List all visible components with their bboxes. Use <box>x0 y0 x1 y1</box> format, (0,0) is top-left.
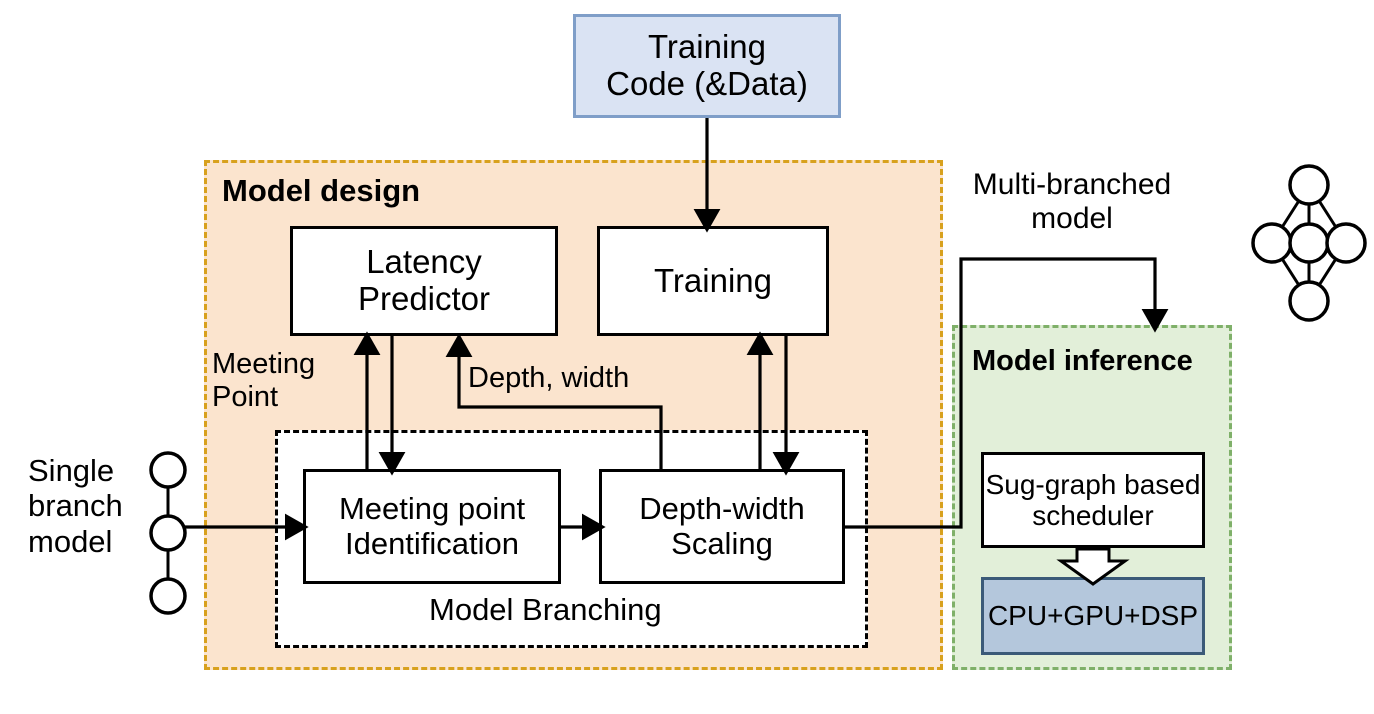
region-model-branching-title: Model Branching <box>429 592 662 627</box>
diagram-canvas: Model design Model inference Model Branc… <box>0 0 1374 714</box>
label-depth-width: Depth, width <box>468 362 629 395</box>
single-branch-model-graph <box>138 448 198 618</box>
box-training[interactable]: Training <box>597 226 829 336</box>
box-subgraph-scheduler[interactable]: Sug-graph basedscheduler <box>981 452 1205 548</box>
box-latency-predictor[interactable]: LatencyPredictor <box>290 226 558 336</box>
region-model-inference-title: Model inference <box>972 345 1193 378</box>
label-single-branch-model: Singlebranchmodel <box>28 453 123 559</box>
box-depth-width-scaling[interactable]: Depth-widthScaling <box>599 469 845 584</box>
region-model-design-title: Model design <box>222 173 420 209</box>
label-meeting-point: MeetingPoint <box>212 348 315 414</box>
box-hardware-cpu-gpu-dsp[interactable]: CPU+GPU+DSP <box>981 577 1205 655</box>
box-meeting-point-identification[interactable]: Meeting pointIdentification <box>303 469 561 584</box>
label-multi-branched-model: Multi-branchedmodel <box>947 168 1197 236</box>
box-training-code[interactable]: TrainingCode (&Data) <box>573 14 841 118</box>
multi-branched-model-graph <box>1248 163 1370 323</box>
